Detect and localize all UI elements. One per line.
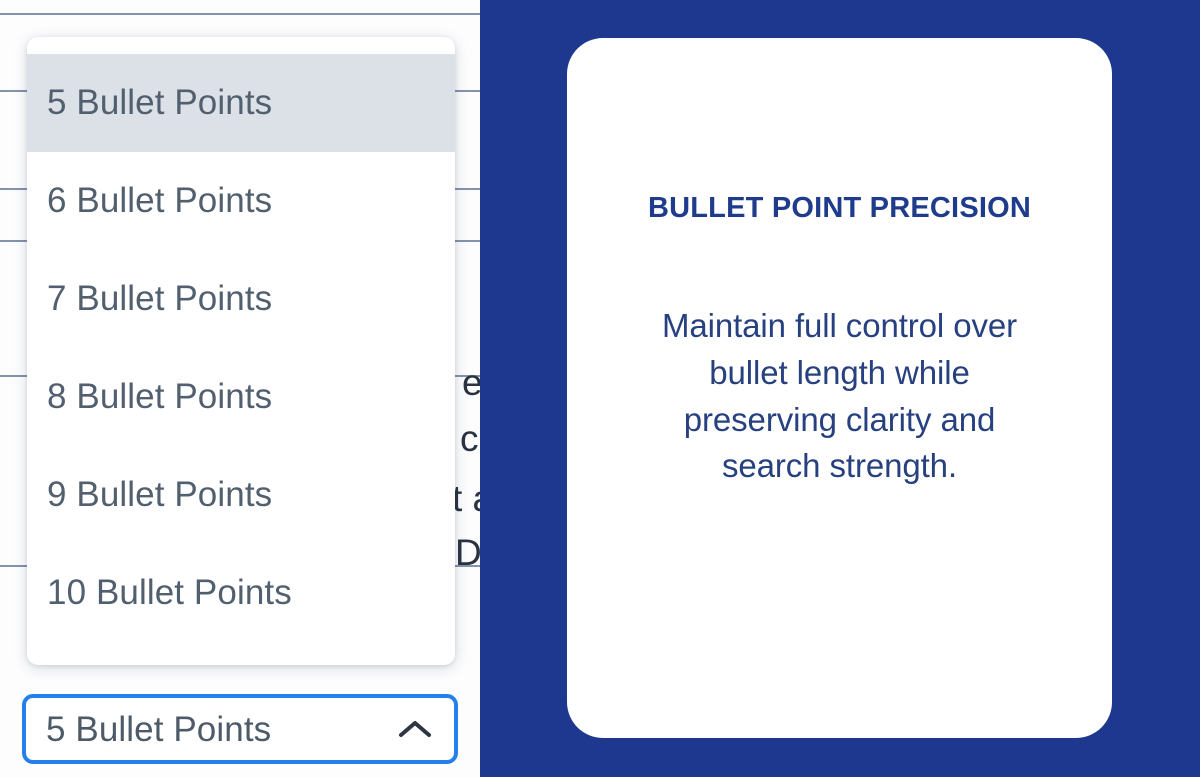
dropdown-option-7[interactable]: 7 Bullet Points: [27, 250, 455, 348]
bullet-points-dropdown-menu[interactable]: 5 Bullet Points 6 Bullet Points 7 Bullet…: [27, 37, 455, 665]
dropdown-option-10[interactable]: 10 Bullet Points: [27, 544, 455, 642]
obscured-text-fragment: c: [460, 418, 479, 460]
select-selected-value: 5 Bullet Points: [46, 712, 398, 747]
info-card-title: BULLET POINT PRECISION: [648, 193, 1031, 225]
dropdown-option-6[interactable]: 6 Bullet Points: [27, 152, 455, 250]
chevron-up-icon[interactable]: [398, 719, 432, 739]
dropdown-option-9[interactable]: 9 Bullet Points: [27, 446, 455, 544]
dropdown-option-8[interactable]: 8 Bullet Points: [27, 348, 455, 446]
preview-panel: BULLET POINT PRECISION Maintain full con…: [480, 0, 1200, 777]
obscured-text-fragment: e: [462, 362, 480, 404]
info-card-body: Maintain full control over bullet length…: [650, 303, 1030, 490]
dropdown-option-list: 5 Bullet Points 6 Bullet Points 7 Bullet…: [27, 54, 455, 642]
app-screen: e c t a D 5 Bullet Points 6 Bullet Point…: [0, 0, 1200, 777]
form-divider: [0, 13, 480, 15]
bullet-points-count-select[interactable]: 5 Bullet Points: [22, 694, 458, 764]
obscured-text-fragment: t a: [452, 478, 480, 520]
obscured-text-fragment: D: [455, 532, 480, 574]
info-card: BULLET POINT PRECISION Maintain full con…: [567, 38, 1112, 738]
dropdown-option-5[interactable]: 5 Bullet Points: [27, 54, 455, 152]
